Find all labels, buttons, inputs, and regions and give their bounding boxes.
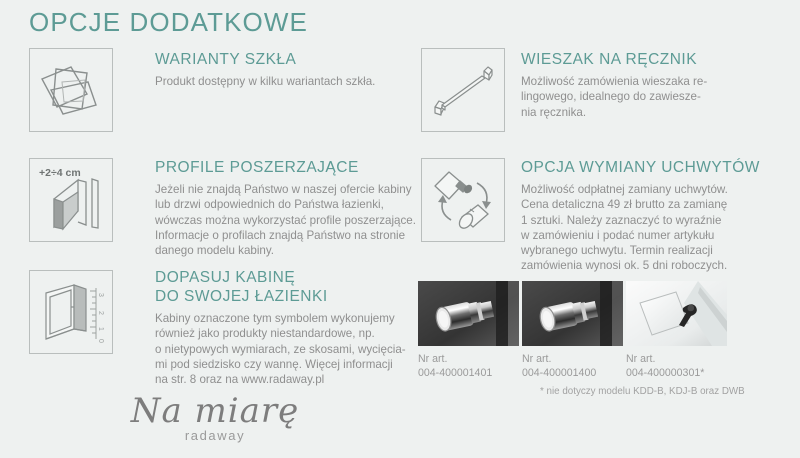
widening-profile-icon-label: +2÷4 cm — [39, 167, 81, 179]
feature-towel-text: WIESZAK NA RĘCZNIK Możliwość zamówienia … — [521, 50, 707, 120]
feature-profile-text: PROFILE POSZERZAJĄCE Jeżeli nie znajdą P… — [155, 158, 416, 258]
product-label-line2: 004-400001400 — [522, 367, 623, 381]
additional-options-page: OPCJE DODATKOWE WARIANTY SZKŁA Produkt d… — [0, 0, 800, 458]
feature-glass-body: Produkt dostępny w kilku wariantach szkł… — [155, 74, 375, 89]
product-label-line1: Nr art. — [418, 353, 519, 367]
feature-towel-heading: WIESZAK NA RĘCZNIK — [521, 50, 707, 69]
svg-text:2: 2 — [97, 311, 104, 315]
feature-fit-heading-line2: DO SWOJEJ ŁAZIENKI — [155, 287, 406, 306]
product-label-line2: 004-400000301* — [626, 367, 727, 381]
product-label: Nr art. 004-400000301* — [626, 353, 727, 380]
product-item: Nr art. 004-400001400 — [522, 281, 623, 380]
handle-photo-light-3 — [626, 281, 727, 346]
radaway-na-miare-logo: Na miarę radaway — [125, 392, 305, 443]
handle-photo-dark-2 — [522, 281, 623, 346]
feature-fit-body: Kabiny oznaczone tym symbolem wykonujemy… — [155, 311, 406, 387]
feature-handle-body: Możliwość odpłatnej zamiany uchwytów. Ce… — [521, 182, 760, 274]
glass-sheets-icon — [29, 48, 113, 132]
product-label-line1: Nr art. — [626, 353, 727, 367]
product-label: Nr art. 004-400001401 — [418, 353, 519, 380]
feature-towel-body: Możliwość zamówienia wieszaka re- lingow… — [521, 74, 707, 120]
handle-swap-icon — [421, 158, 505, 242]
product-label-line2: 004-400001401 — [418, 367, 519, 381]
feature-handle-heading: OPCJA WYMIANY UCHWYTÓW — [521, 158, 760, 177]
towel-rail-icon — [421, 48, 505, 132]
widening-profile-icon: +2÷4 cm — [29, 158, 113, 242]
feature-glass-text: WARIANTY SZKŁA Produkt dostępny w kilku … — [155, 50, 375, 89]
feature-profile-heading: PROFILE POSZERZAJĄCE — [155, 158, 416, 177]
logo-script-text: Na miarę — [125, 392, 305, 430]
shower-cabin-measure-icon: 3 2 1 0 — [29, 270, 113, 354]
feature-glass-heading: WARIANTY SZKŁA — [155, 50, 375, 69]
svg-text:3: 3 — [97, 293, 104, 297]
feature-fit-heading-line1: DOPASUJ KABINĘ — [155, 268, 406, 287]
svg-text:0: 0 — [97, 339, 104, 343]
feature-handle-text: OPCJA WYMIANY UCHWYTÓW Możliwość odpłatn… — [521, 158, 760, 274]
product-label-line1: Nr art. — [522, 353, 623, 367]
product-item: Nr art. 004-400001401 — [418, 281, 519, 380]
products-footnote: * nie dotyczy modelu KDD-B, KDJ-B oraz D… — [540, 386, 745, 397]
feature-profile-body: Jeżeli nie znajdą Państwo w naszej oferc… — [155, 182, 416, 258]
feature-fit-text: DOPASUJ KABINĘ DO SWOJEJ ŁAZIENKI Kabiny… — [155, 268, 406, 387]
handle-photo-dark-1 — [418, 281, 519, 346]
page-title: OPCJE DODATKOWE — [29, 7, 308, 38]
product-label: Nr art. 004-400001400 — [522, 353, 623, 380]
product-item: Nr art. 004-400000301* — [626, 281, 727, 380]
svg-text:1: 1 — [97, 327, 104, 331]
